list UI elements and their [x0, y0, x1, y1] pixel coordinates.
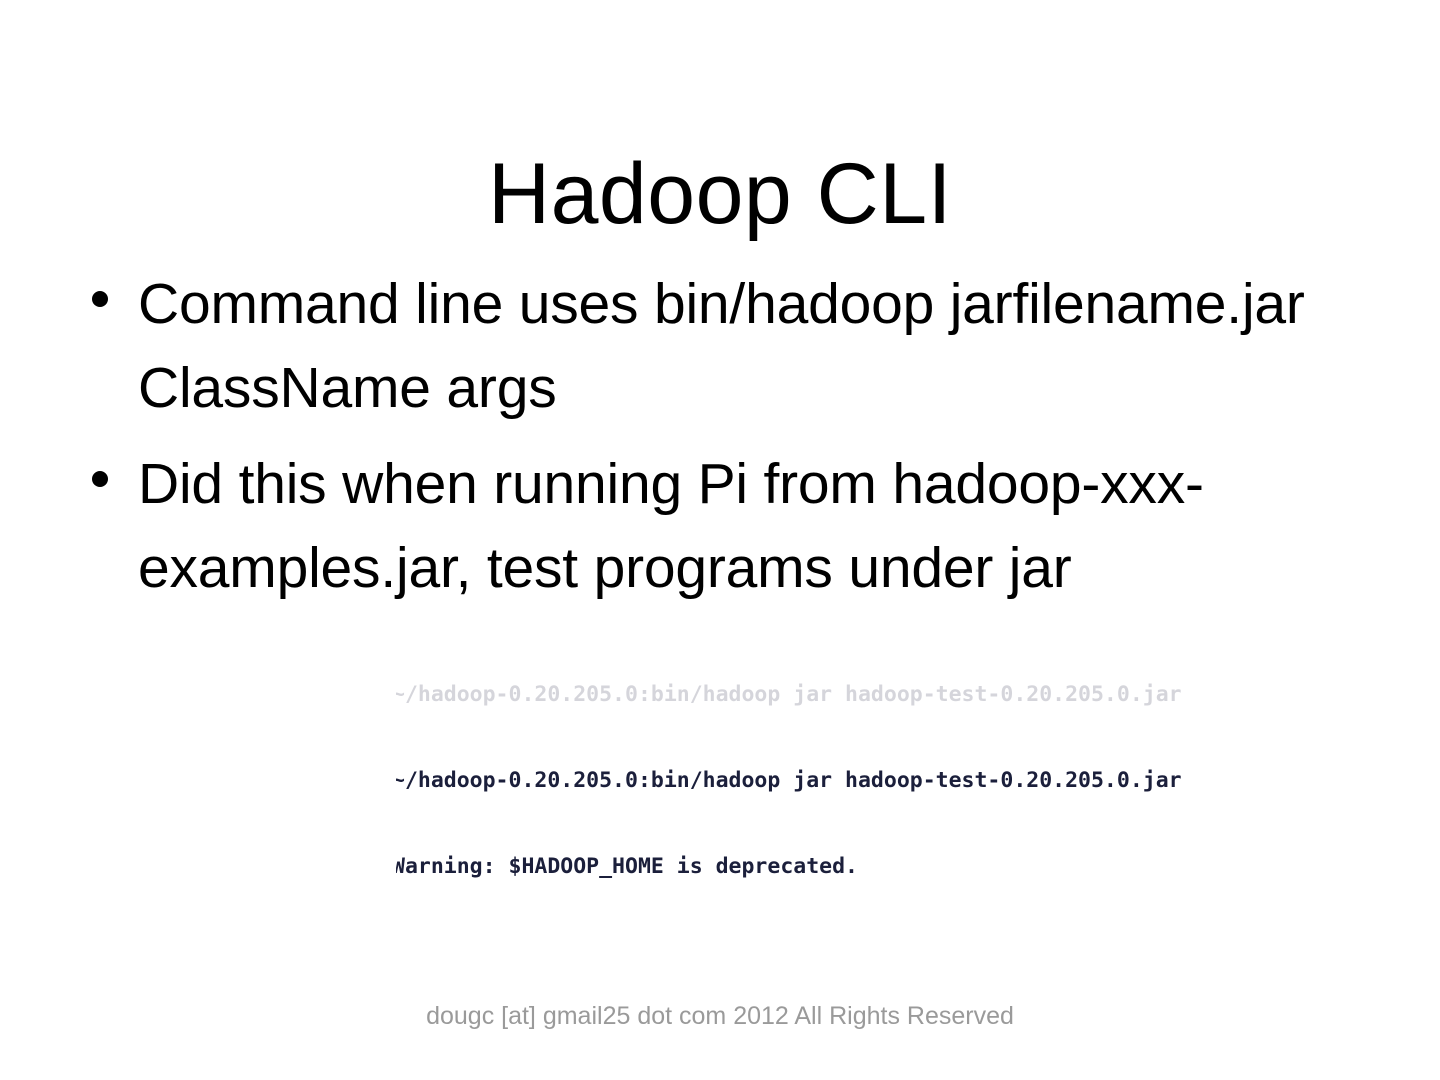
- presentation-slide: Hadoop CLI Command line uses bin/hadoop …: [0, 0, 1440, 1080]
- list-item-text: Did this when running Pi from hadoop-xxx…: [138, 442, 1390, 610]
- slide-footer: dougc [at] gmail25 dot com 2012 All Righ…: [360, 1000, 1080, 1033]
- list-item: Command line uses bin/hadoop jarfilename…: [70, 262, 1390, 430]
- terminal-line-clipped-top: ~/hadoop-0.20.205.0:bin/hadoop jar hadoo…: [396, 681, 1268, 710]
- bullet-list: Command line uses bin/hadoop jarfilename…: [70, 262, 1390, 622]
- bullet-dot-icon: [92, 291, 108, 307]
- bullet-dot-icon: [92, 471, 108, 487]
- list-item: Did this when running Pi from hadoop-xxx…: [70, 442, 1390, 610]
- terminal-output: ~/hadoop-0.20.205.0:bin/hadoop jar hadoo…: [396, 646, 1268, 938]
- page-title: Hadoop CLI: [0, 144, 1440, 244]
- list-item-text: Command line uses bin/hadoop jarfilename…: [138, 262, 1390, 430]
- terminal-line: Warning: $HADOOP_HOME is deprecated.: [396, 853, 1268, 882]
- terminal-screenshot-image: ~/hadoop-0.20.205.0:bin/hadoop jar hadoo…: [396, 646, 1268, 938]
- terminal-line: ~/hadoop-0.20.205.0:bin/hadoop jar hadoo…: [396, 767, 1268, 796]
